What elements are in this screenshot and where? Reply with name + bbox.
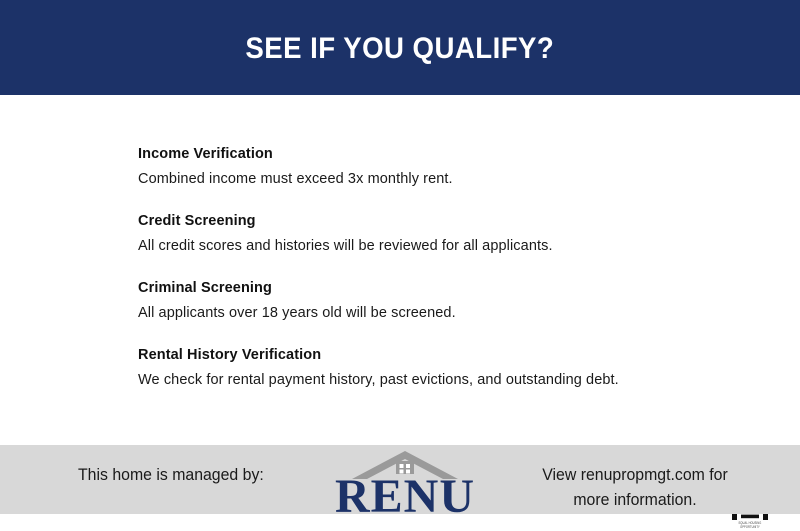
list-item: Criminal Screening All applicants over 1… bbox=[138, 278, 738, 323]
qualification-title: Criminal Screening bbox=[138, 278, 738, 298]
main-content: Income Verification Combined income must… bbox=[0, 95, 800, 445]
list-item: Credit Screening All credit scores and h… bbox=[138, 211, 738, 256]
qualification-title: Income Verification bbox=[138, 144, 738, 164]
footer-banner: This home is managed by: RENU MANAGEMENT… bbox=[0, 445, 800, 514]
more-information-line1: View renupropmgt.com for bbox=[505, 463, 764, 488]
renu-brand-logo[interactable]: RENU MANAGEMENT bbox=[325, 450, 485, 514]
list-item: Income Verification Combined income must… bbox=[138, 144, 738, 189]
page-title: SEE IF YOU QUALIFY? bbox=[246, 32, 555, 66]
more-information-text: View renupropmgt.com for more informatio… bbox=[505, 463, 764, 513]
qualification-description: All applicants over 18 years old will be… bbox=[138, 303, 738, 323]
equal-housing-caption: EQUAL HOUSING OPPORTUNITY bbox=[724, 521, 776, 531]
managed-by-label: This home is managed by: bbox=[78, 466, 264, 485]
renu-wordmark: RENU bbox=[325, 472, 485, 514]
equal-housing-caption-line2: OPPORTUNITY bbox=[724, 526, 776, 531]
qualification-title: Rental History Verification bbox=[138, 345, 738, 365]
header-banner: SEE IF YOU QUALIFY? bbox=[0, 0, 800, 95]
qualification-description: All credit scores and histories will be … bbox=[138, 236, 738, 256]
qualification-description: Combined income must exceed 3x monthly r… bbox=[138, 169, 738, 189]
list-item: Rental History Verification We check for… bbox=[138, 345, 738, 390]
qualification-description: We check for rental payment history, pas… bbox=[138, 370, 738, 390]
qualification-title: Credit Screening bbox=[138, 211, 738, 231]
qualification-list: Income Verification Combined income must… bbox=[138, 144, 738, 390]
more-information-line2: more information. bbox=[505, 488, 764, 513]
